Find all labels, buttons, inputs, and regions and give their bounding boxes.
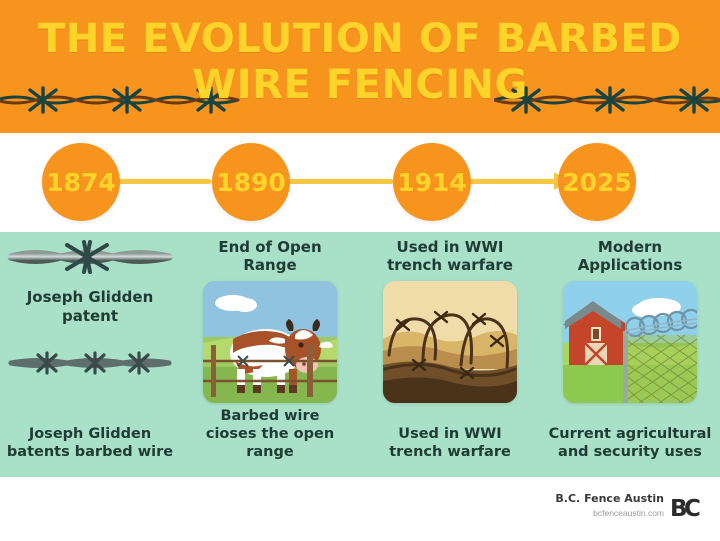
svg-text:C: C <box>684 496 701 522</box>
column-end-of-open-range: End of Open Range <box>180 232 360 477</box>
timeline-year-label: 1914 <box>397 168 467 197</box>
column-wwi-trench: Used in WWI trench warfare <box>360 232 540 477</box>
barn-razor-fence-illustration <box>563 281 697 403</box>
column-glidden-patent: Joseph Glidden patent <box>0 232 180 477</box>
timeline-connector-3 <box>470 179 558 184</box>
column-caption: Joseph Glidden batents barbed wire <box>0 425 180 461</box>
title-line-2: trench warfare <box>387 256 513 274</box>
column-title: Modern Applications <box>544 238 716 274</box>
column-title: End of Open Range <box>184 238 356 274</box>
caption-line-2: batents barbed wire <box>7 444 173 460</box>
timeline-connector-1 <box>105 179 211 184</box>
barbed-wire-photo-icon <box>5 240 175 274</box>
page-title: THE EVOLUTION OF BARBED WIRE FENCING <box>0 16 720 108</box>
title-line-1: THE EVOLUTION OF BARBED <box>38 16 682 62</box>
midtext-line-1: Joseph Glidden <box>27 288 154 306</box>
column-caption: Used in WWI trench warfare <box>360 425 540 461</box>
timeline-year-label: 2025 <box>562 168 632 197</box>
caption-line-2: trench warfare <box>389 444 511 460</box>
column-glidden-midtext: Joseph Glidden patent <box>27 288 154 326</box>
title-line-2: Range <box>243 256 296 274</box>
timeline-node-1890[interactable]: 1890 <box>212 143 290 221</box>
title-line-1: Used in WWI <box>397 238 504 256</box>
timeline-year-label: 1890 <box>216 168 286 197</box>
timeline-node-1874[interactable]: 1874 <box>42 143 120 221</box>
caption-line-1: Joseph Glidden <box>29 426 151 442</box>
column-modern-applications: Modern Applications <box>540 232 720 477</box>
trench-barbed-wire-illustration <box>383 281 517 403</box>
timeline-connector-2 <box>289 179 393 184</box>
caption-line-2: cioses the open range <box>206 426 334 460</box>
title-line-2: WIRE FENCING <box>0 62 720 108</box>
title-line-1: End of Open <box>218 238 321 256</box>
brand-block: B.C. Fence Austin bcfenceaustin.com <box>555 492 664 519</box>
column-caption: Barbed wire cioses the open range <box>180 407 360 461</box>
timeline-year-label: 1874 <box>46 168 116 197</box>
timeline-node-2025[interactable]: 2025 <box>558 143 636 221</box>
cow-pasture-illustration <box>203 281 337 403</box>
column-caption: Current agricultural and security uses <box>540 425 720 461</box>
brand-name: B.C. Fence Austin <box>555 492 664 506</box>
caption-line-1: Used in WWI <box>398 426 501 442</box>
caption-line-1: Barbed wire <box>221 408 320 424</box>
content-panel: Joseph Glidden patent <box>0 232 720 477</box>
midtext-line-2: patent <box>62 307 118 325</box>
header-banner: THE EVOLUTION OF BARBED WIRE FENCING <box>0 0 720 133</box>
barbed-wire-photo-icon <box>5 346 175 380</box>
column-title: Used in WWI trench warfare <box>364 238 536 274</box>
infographic-root: THE EVOLUTION OF BARBED WIRE FENCING <box>0 0 720 541</box>
bc-logo-icon: B C <box>670 493 708 523</box>
caption-line-1: Current agricultural <box>549 426 712 442</box>
timeline-node-1914[interactable]: 1914 <box>393 143 471 221</box>
footer: B.C. Fence Austin bcfenceaustin.com B C <box>0 477 720 541</box>
brand-url[interactable]: bcfenceaustin.com <box>555 507 664 519</box>
caption-line-2: and security uses <box>558 444 702 460</box>
timeline: 1874 1890 1914 2025 <box>0 133 720 232</box>
